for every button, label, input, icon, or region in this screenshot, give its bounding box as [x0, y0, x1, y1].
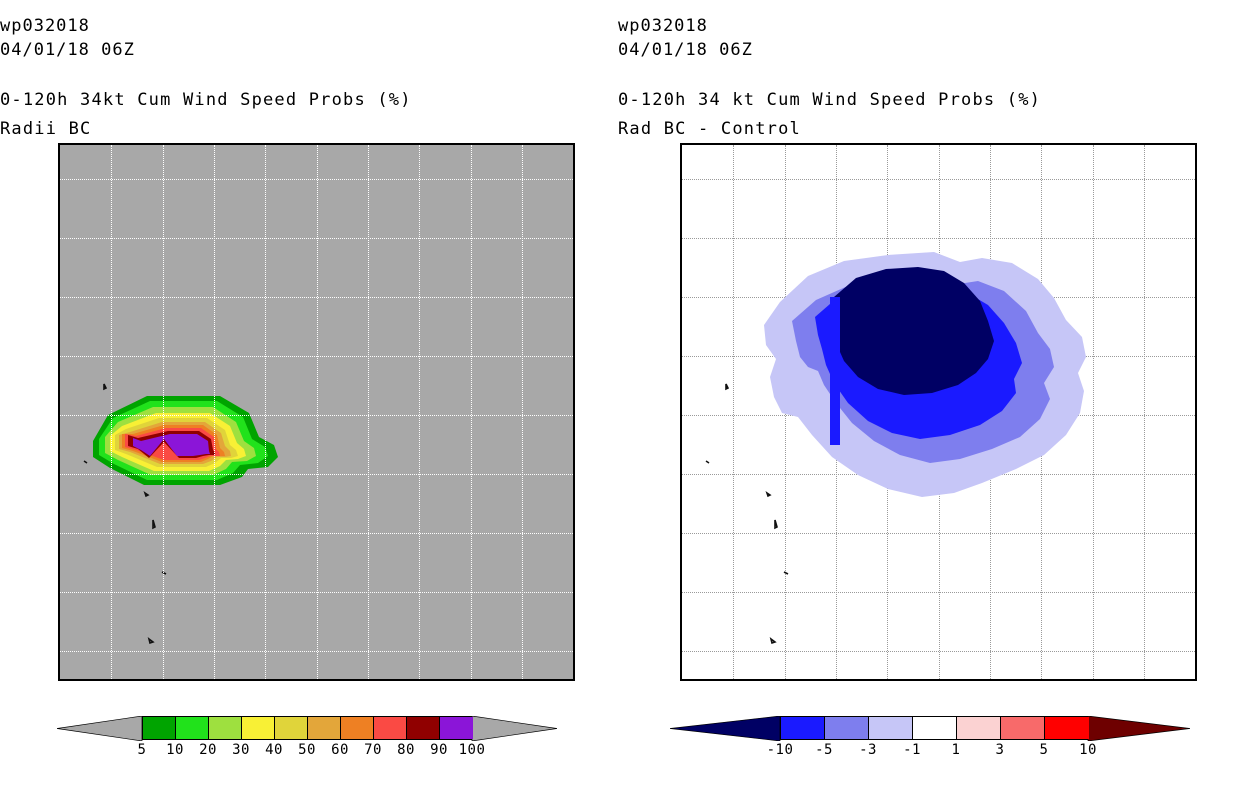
colorbar-tick-label: -3	[848, 742, 888, 758]
panel-right-datetime: 04/01/18 06Z	[618, 40, 1236, 60]
gridline-v	[317, 145, 318, 679]
colorbar-swatch	[869, 717, 913, 739]
gridline-h	[60, 238, 573, 239]
panel-left-title: 0-120h 34kt Cum Wind Speed Probs (%)	[0, 90, 618, 110]
panel-right-title: 0-120h 34 kt Cum Wind Speed Probs (%)	[618, 90, 1236, 110]
colorbar-swatch	[1045, 717, 1089, 739]
gridline-v	[265, 145, 266, 679]
gridline-h	[60, 297, 573, 298]
difference-contour-field	[682, 145, 1195, 679]
coastline-marks	[706, 384, 788, 643]
panel-left-subtitle: Radii BC	[0, 119, 618, 139]
gridline-v	[368, 145, 369, 679]
colorbar-tick-label: 3	[980, 742, 1020, 758]
colorbar-swatch	[275, 717, 308, 739]
colorbar-swatch	[374, 717, 407, 739]
panel-left-storm-id: wp032018	[0, 16, 618, 36]
plot-clip-left	[60, 145, 573, 679]
colorbar-swatch	[209, 717, 242, 739]
gridline-h	[60, 415, 573, 416]
colorbar-swatch	[957, 717, 1001, 739]
colorbar-swatch	[407, 717, 440, 739]
gridline-h	[60, 356, 573, 357]
plot-area-right: 144E 145E 146E 147E 148E 149E 150E 151E …	[680, 143, 1197, 681]
contour-notch-edge	[830, 297, 840, 445]
colorbar-tick-label: -5	[804, 742, 844, 758]
panel-rad-bc-minus-control: wp032018 04/01/18 06Z 0-120h 34 kt Cum W…	[618, 0, 1236, 800]
colorbar-tick-label: -10	[760, 742, 800, 758]
panel-right-subtitle: Rad BC - Control	[618, 119, 1236, 139]
colorbar-swatch	[308, 717, 341, 739]
colorbar-swatch	[341, 717, 374, 739]
panel-right-storm-id: wp032018	[618, 16, 1236, 36]
colorbar-swatch	[781, 717, 825, 739]
plot-clip-right	[682, 145, 1195, 679]
colorbar-tick-label: 1	[936, 742, 976, 758]
gridline-v	[419, 145, 420, 679]
gridline-v	[163, 145, 164, 679]
gridline-h	[60, 474, 573, 475]
gridline-v	[522, 145, 523, 679]
colorbar-swatch	[825, 717, 869, 739]
colorbar-swatch	[1001, 717, 1045, 739]
colorbar-swatch	[176, 717, 209, 739]
colorbar-swatch	[143, 717, 176, 739]
probability-colorbar: 5 10 20 30 40 50 60 70 80 90 100	[57, 716, 557, 768]
panel-radii-bc: wp032018 04/01/18 06Z 0-120h 34kt Cum Wi…	[0, 0, 618, 800]
colorbar-swatch	[440, 717, 473, 739]
difference-colorbar: -10 -5 -3 -1 1 3 5 10	[670, 716, 1190, 768]
colorbar-swatch	[913, 717, 957, 739]
gridline-v	[111, 145, 112, 679]
colorbar-tick-label: 5	[1024, 742, 1064, 758]
panel-left-datetime: 04/01/18 06Z	[0, 40, 618, 60]
colorbar-tick-label: -1	[892, 742, 932, 758]
colorbar-tick-label: 10	[1068, 742, 1108, 758]
colorbar-tick-label: 100	[452, 742, 492, 758]
gridline-v	[471, 145, 472, 679]
gridline-h	[60, 592, 573, 593]
gridline-v	[214, 145, 215, 679]
plot-area-left: 144E 145E 146E 147E 148E 149E 150E 151E …	[58, 143, 575, 681]
gridline-h	[60, 533, 573, 534]
gridline-h	[60, 651, 573, 652]
gridline-h	[60, 179, 573, 180]
figure-canvas: wp032018 04/01/18 06Z 0-120h 34kt Cum Wi…	[0, 0, 1236, 800]
colorbar-swatch	[242, 717, 275, 739]
